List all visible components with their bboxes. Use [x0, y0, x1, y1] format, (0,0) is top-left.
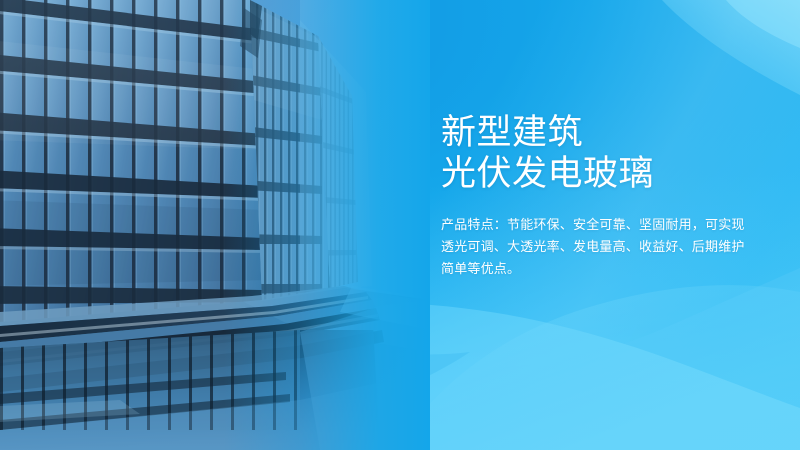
building-photo [0, 0, 430, 450]
copy-block: 新型建筑 光伏发电玻璃 产品特点：节能环保、安全可靠、坚固耐用，可实现透光可调、… [441, 112, 761, 280]
headline: 新型建筑 光伏发电玻璃 [441, 112, 761, 194]
promo-banner: 新型建筑 光伏发电玻璃 产品特点：节能环保、安全可靠、坚固耐用，可实现透光可调、… [0, 0, 800, 450]
product-features-text: 产品特点：节能环保、安全可靠、坚固耐用，可实现透光可调、大透光率、发电量高、收益… [441, 194, 751, 280]
